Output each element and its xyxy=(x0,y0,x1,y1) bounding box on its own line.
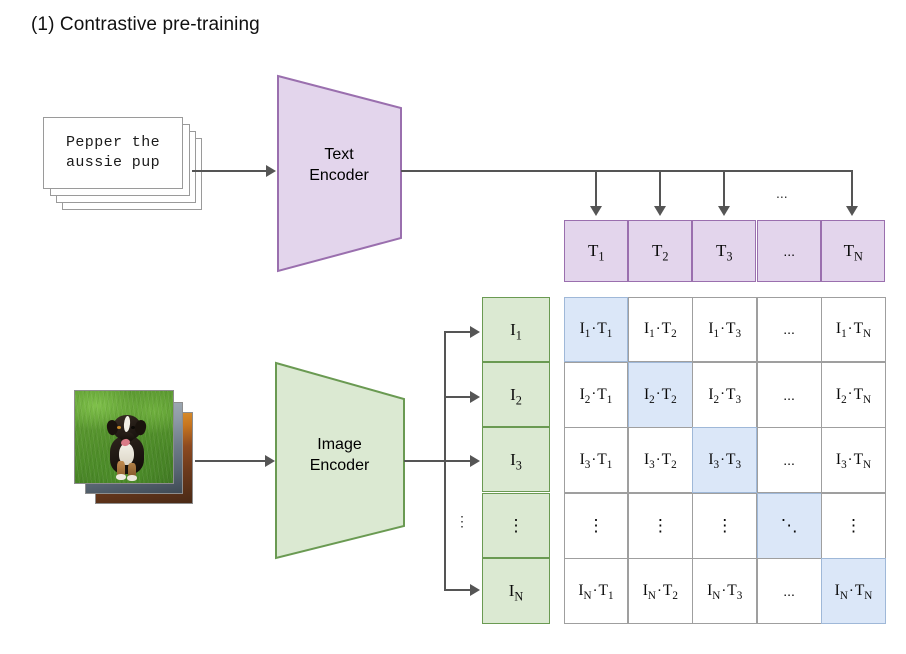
puppy-eye-left xyxy=(117,426,121,429)
matrix-cell-r1-c5: I1·TN xyxy=(821,297,886,363)
image-embedding-i3-label: I3 xyxy=(510,450,522,470)
text-bus-drop-1 xyxy=(595,170,597,208)
image-embedding-i2[interactable]: I2 xyxy=(482,362,550,427)
image-embedding-in[interactable]: IN xyxy=(482,558,550,624)
matrix-cell-r1-c3: I1·T3 xyxy=(692,297,757,363)
image-bus-arrow-n xyxy=(470,584,480,596)
matrix-cell-r3-c4: ... xyxy=(757,427,822,493)
dot-product-operator: · xyxy=(847,452,854,469)
arrow-image-to-encoder-head xyxy=(265,455,275,467)
text-encoder-label-line1: Text xyxy=(277,144,401,165)
image-bus-ellipsis: ⋮ xyxy=(455,514,469,528)
text-bus-drop-n xyxy=(851,170,853,208)
text-embedding-tn-label: TN xyxy=(844,241,863,261)
dot-product-operator: · xyxy=(719,321,726,338)
text-encoder-label: Text Encoder xyxy=(277,144,401,186)
matrix-cell-r3-c5: I3·TN xyxy=(821,427,886,493)
matrix-cell-r2-c3: I2·T3 xyxy=(692,362,757,428)
dot-product-operator: · xyxy=(592,583,599,600)
image-encoder-label: Image Encoder xyxy=(275,434,404,476)
image-embedding-ellipsis: ⋮ xyxy=(482,493,550,558)
image-embedding-i1[interactable]: I1 xyxy=(482,297,550,362)
dot-product-operator: · xyxy=(848,583,855,600)
matrix-cell-r4-c2: ⋮ xyxy=(628,493,693,559)
matrix-cell-r5-c5: IN·TN xyxy=(821,558,886,624)
image-bus-arrow-3 xyxy=(470,455,480,467)
matrix-cell-r3-c2: I3·T2 xyxy=(628,427,693,493)
figure-canvas: (1) Contrastive pre-training Pepper the … xyxy=(0,0,906,654)
matrix-cell-r4-c3: ⋮ xyxy=(692,493,757,559)
dot-product-operator: · xyxy=(590,386,597,403)
text-bus-ellipsis: ... xyxy=(776,185,788,201)
matrix-cell-r2-c4: ... xyxy=(757,362,822,428)
image-bus-branch-3 xyxy=(444,460,472,462)
matrix-cell-ellipsis: ⋮ xyxy=(716,517,733,534)
text-bus-horizontal xyxy=(401,170,853,172)
image-bus-branch-1 xyxy=(444,331,472,333)
image-bus-branch-2 xyxy=(444,396,472,398)
matrix-cell-r1-c4: ... xyxy=(757,297,822,363)
dot-product-operator: · xyxy=(847,321,854,338)
matrix-cell-r5-c3: IN·T3 xyxy=(692,558,757,624)
matrix-cell-r5-c1: IN·T1 xyxy=(564,558,629,624)
text-bus-drop-2 xyxy=(659,170,661,208)
matrix-cell-r1-c1: I1·T1 xyxy=(564,297,629,363)
matrix-cell-r4-c1: ⋮ xyxy=(564,493,629,559)
text-bus-arrow-1 xyxy=(590,206,602,216)
dot-product-operator: · xyxy=(720,583,727,600)
matrix-cell-r2-c5: I2·TN xyxy=(821,362,886,428)
text-card-front: Pepper the aussie pup xyxy=(43,117,183,189)
text-embedding-t2-label: T2 xyxy=(652,241,669,261)
image-encoder-label-line2: Encoder xyxy=(275,455,404,476)
dot-product-operator: · xyxy=(719,452,726,469)
puppy-illustration xyxy=(105,415,149,481)
dot-product-operator: · xyxy=(655,386,662,403)
text-embedding-t1[interactable]: T1 xyxy=(564,220,628,282)
text-embedding-tn[interactable]: TN xyxy=(821,220,885,282)
text-caption: Pepper the aussie pup xyxy=(66,133,160,173)
image-embedding-i2-label: I2 xyxy=(510,385,522,405)
image-embedding-ellipsis-label: ⋮ xyxy=(508,517,525,534)
text-embedding-t2[interactable]: T2 xyxy=(628,220,692,282)
text-embedding-t1-label: T1 xyxy=(588,241,605,261)
arrow-image-to-encoder-line xyxy=(195,460,267,462)
matrix-cell-r3-c1: I3·T1 xyxy=(564,427,629,493)
image-embedding-i1-label: I1 xyxy=(510,320,522,340)
matrix-cell-r3-c3: I3·T3 xyxy=(692,427,757,493)
image-bus-branch-n xyxy=(444,589,472,591)
image-bus-arrow-1 xyxy=(470,326,480,338)
dot-product-operator: · xyxy=(656,583,663,600)
matrix-cell-r5-c4: ... xyxy=(757,558,822,624)
text-bus-arrow-2 xyxy=(654,206,666,216)
image-encoder-label-line1: Image xyxy=(275,434,404,455)
puppy-paw-left xyxy=(116,474,126,480)
matrix-cell-ellipsis: ⋮ xyxy=(652,517,669,534)
text-embedding-ellipsis: ... xyxy=(757,220,821,282)
dot-product-operator: · xyxy=(590,452,597,469)
text-bus-drop-3 xyxy=(723,170,725,208)
image-embedding-in-label: IN xyxy=(509,581,524,601)
arrow-text-to-encoder-line xyxy=(192,170,268,172)
text-embedding-t3[interactable]: T3 xyxy=(692,220,756,282)
text-embedding-t3-label: T3 xyxy=(716,241,733,261)
matrix-cell-r1-c2: I1·T2 xyxy=(628,297,693,363)
matrix-cell-r2-c2: I2·T2 xyxy=(628,362,693,428)
dot-product-operator: · xyxy=(590,321,597,338)
dot-product-operator: · xyxy=(655,321,662,338)
matrix-cell-r4-c4: ⋱ xyxy=(757,493,822,559)
image-bus-stem xyxy=(404,460,446,462)
figure-title: (1) Contrastive pre-training xyxy=(31,14,260,36)
matrix-cell-ellipsis: ⋱ xyxy=(781,517,798,534)
photo-front-puppy xyxy=(74,390,174,484)
image-embedding-i3[interactable]: I3 xyxy=(482,427,550,492)
text-bus-arrow-n xyxy=(846,206,858,216)
similarity-matrix: I1·T1I1·T2I1·T3...I1·TNI2·T1I2·T2I2·T3..… xyxy=(564,297,886,624)
text-encoder-label-line2: Encoder xyxy=(277,165,401,186)
text-bus-arrow-3 xyxy=(718,206,730,216)
matrix-cell-r2-c1: I2·T1 xyxy=(564,362,629,428)
matrix-cell-ellipsis: ⋮ xyxy=(845,517,862,534)
puppy-paw-right xyxy=(127,475,137,481)
dot-product-operator: · xyxy=(719,386,726,403)
image-bus-arrow-2 xyxy=(470,391,480,403)
puppy-eye-right xyxy=(131,426,135,429)
matrix-cell-r4-c5: ⋮ xyxy=(821,493,886,559)
dot-product-operator: · xyxy=(655,452,662,469)
matrix-cell-r5-c2: IN·T2 xyxy=(628,558,693,624)
matrix-cell-ellipsis: ⋮ xyxy=(587,517,604,534)
dot-product-operator: · xyxy=(847,386,854,403)
arrow-text-to-encoder-head xyxy=(266,165,276,177)
